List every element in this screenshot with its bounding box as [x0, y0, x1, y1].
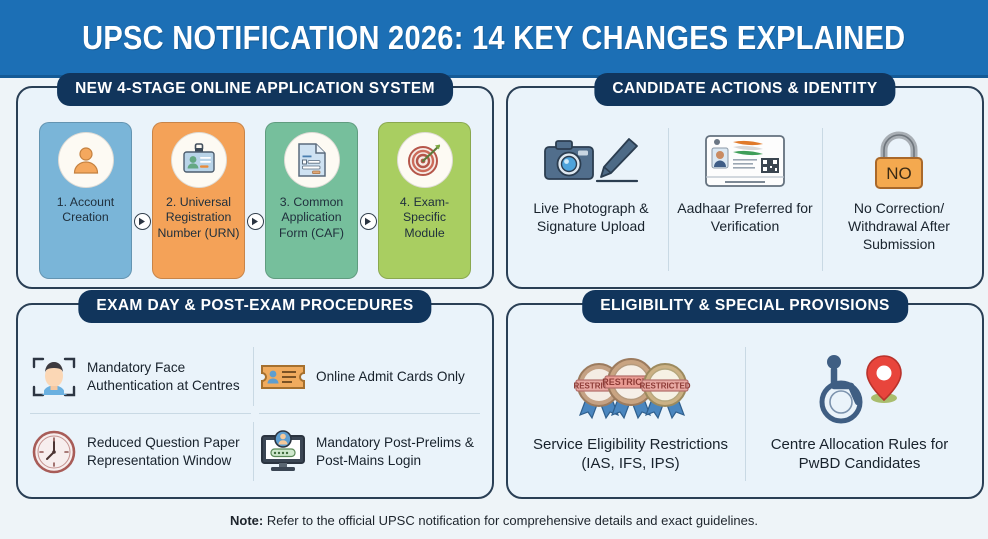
panel-title-candidate-actions: CANDIDATE ACTIONS & IDENTITY [594, 73, 895, 106]
candidate-action-label: No Correction/ Withdrawal After Submissi… [828, 200, 970, 254]
panels-grid: NEW 4-STAGE ONLINE APPLICATION SYSTEM 1.… [16, 86, 972, 501]
stage-label: 3. Common Application Form (CAF) [270, 195, 353, 241]
exam-day-item-question-paper[interactable]: Reduced Question Paper Representation Wi… [26, 414, 255, 489]
clock-icon [30, 429, 78, 475]
stage-label: 2. Universal Registration Number (URN) [157, 195, 240, 241]
exam-day-item-label: Online Admit Cards Only [316, 368, 465, 386]
stage-label: 1. Account Creation [44, 195, 127, 226]
eligibility-item-label: Service Eligibility Restrictions (IAS, I… [522, 435, 739, 473]
footer-note-bar: Note: Refer to the official UPSC notific… [0, 501, 988, 539]
padlock-no-text: NO [886, 164, 912, 183]
aadhaar-card-icon [703, 130, 787, 192]
stage-card-exam-module[interactable]: 4. Exam-Specific Module [378, 122, 471, 279]
eligibility-list: RESTRICTED RESTRICTED [508, 335, 982, 497]
panel-candidate-actions: CANDIDATE ACTIONS & IDENTITY [506, 86, 984, 289]
candidate-actions-list: Live Photograph & Signature Upload [508, 118, 982, 287]
stage-card-caf[interactable]: 3. Common Application Form (CAF) [265, 122, 358, 279]
exam-day-item-label: Mandatory Post-Prelims & Post-Mains Logi… [316, 434, 480, 469]
panel-exam-day: EXAM DAY & POST-EXAM PROCEDURES [16, 303, 494, 499]
admit-card-ticket-icon [259, 359, 307, 395]
panel-title-application-system: NEW 4-STAGE ONLINE APPLICATION SYSTEM [57, 73, 453, 106]
padlock-no-icon: NO [866, 130, 932, 192]
user-avatar-icon [58, 132, 114, 188]
play-arrow-icon [360, 213, 377, 230]
infographic-page: UPSC NOTIFICATION 2026: 14 KEY CHANGES E… [0, 0, 988, 539]
target-bullseye-icon [397, 132, 453, 188]
medal-text: RESTRICTED [639, 382, 690, 391]
play-arrow-icon [247, 213, 264, 230]
monitor-login-icon [259, 430, 307, 474]
candidate-action-label: Live Photograph & Signature Upload [520, 200, 662, 236]
candidate-action-photo-signature[interactable]: Live Photograph & Signature Upload [514, 122, 668, 277]
panel-application-system: NEW 4-STAGE ONLINE APPLICATION SYSTEM 1.… [16, 86, 494, 289]
candidate-action-aadhaar[interactable]: Aadhaar Preferred for Verification [668, 122, 822, 277]
stage-card-account-creation[interactable]: 1. Account Creation [39, 122, 132, 279]
face-authentication-icon [30, 354, 78, 400]
exam-day-item-label: Mandatory Face Authentication at Centres [87, 359, 251, 394]
panel-title-exam-day: EXAM DAY & POST-EXAM PROCEDURES [78, 290, 431, 323]
header-bar: UPSC NOTIFICATION 2026: 14 KEY CHANGES E… [0, 0, 988, 78]
id-badge-icon [171, 132, 227, 188]
exam-day-item-admit-card[interactable]: Online Admit Cards Only [255, 339, 484, 414]
exam-day-list: Mandatory Face Authentication at Centres [18, 335, 492, 497]
stage-card-urn[interactable]: 2. Universal Registration Number (URN) [152, 122, 245, 279]
candidate-action-label: Aadhaar Preferred for Verification [674, 200, 816, 236]
exam-day-item-face-auth[interactable]: Mandatory Face Authentication at Centres [26, 339, 255, 414]
restricted-medals-icon: RESTRICTED RESTRICTED [556, 349, 706, 427]
exam-day-item-label: Reduced Question Paper Representation Wi… [87, 434, 251, 469]
footer-note-text: Refer to the official UPSC notification … [263, 513, 758, 528]
footer-note-label: Note: [230, 513, 263, 528]
panel-eligibility: ELIGIBILITY & SPECIAL PROVISIONS RESTRIC… [506, 303, 984, 499]
eligibility-item-centre-allocation[interactable]: Centre Allocation Rules for PwBD Candida… [745, 341, 974, 487]
candidate-action-no-correction[interactable]: NO No Correction/ Withdrawal After Submi… [822, 122, 976, 277]
wheelchair-location-icon [812, 349, 908, 427]
play-arrow-icon [134, 213, 151, 230]
exam-day-item-post-login[interactable]: Mandatory Post-Prelims & Post-Mains Logi… [255, 414, 484, 489]
flow-arrow-3 [358, 122, 378, 279]
eligibility-item-service-restrictions[interactable]: RESTRICTED RESTRICTED [516, 341, 745, 487]
flow-arrow-2 [245, 122, 265, 279]
panel-title-eligibility: ELIGIBILITY & SPECIAL PROVISIONS [582, 290, 908, 323]
eligibility-item-label: Centre Allocation Rules for PwBD Candida… [751, 435, 968, 473]
footer-note: Note: Refer to the official UPSC notific… [230, 513, 758, 528]
document-form-icon [284, 132, 340, 188]
camera-and-pen-icon [541, 130, 641, 192]
stage-label: 4. Exam-Specific Module [383, 195, 466, 241]
stage-flow: 1. Account Creation [18, 118, 492, 287]
flow-arrow-1 [132, 122, 152, 279]
page-title: UPSC NOTIFICATION 2026: 14 KEY CHANGES E… [82, 19, 905, 57]
